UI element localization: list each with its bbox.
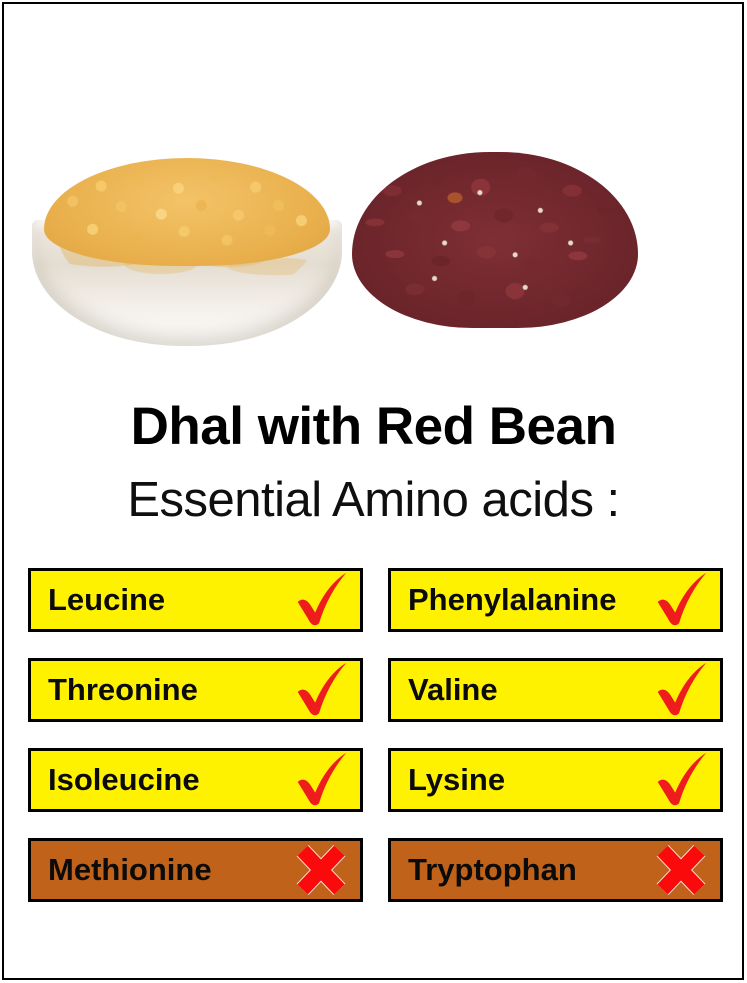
- photo-strip: [0, 140, 747, 350]
- amino-acid-item-valine[interactable]: Valine: [388, 658, 723, 722]
- amino-acid-label: Threonine: [48, 672, 198, 708]
- amino-acid-label: Leucine: [48, 582, 165, 618]
- check-icon: [290, 749, 352, 811]
- amino-acid-item-methionine[interactable]: Methionine: [28, 838, 363, 902]
- amino-acid-label: Tryptophan: [408, 852, 577, 888]
- amino-acid-item-isoleucine[interactable]: Isoleucine: [28, 748, 363, 812]
- amino-acid-label: Phenylalanine: [408, 582, 616, 618]
- amino-acid-item-phenylalanine[interactable]: Phenylalanine: [388, 568, 723, 632]
- amino-acid-label: Valine: [408, 672, 498, 708]
- amino-acid-item-leucine[interactable]: Leucine: [28, 568, 363, 632]
- amino-acid-label: Methionine: [48, 852, 212, 888]
- amino-acid-grid: Leucine Phenylalanine Threonine Vali: [28, 568, 723, 928]
- dhal-bowl-photo: [32, 158, 342, 346]
- amino-acid-label: Lysine: [408, 762, 505, 798]
- check-icon: [650, 659, 712, 721]
- check-icon: [290, 569, 352, 631]
- cross-icon: [290, 839, 352, 901]
- page-subtitle: Essential Amino acids :: [0, 472, 747, 528]
- red-bean-pile: [352, 152, 638, 328]
- red-bean-photo: [352, 152, 638, 344]
- amino-acid-item-tryptophan[interactable]: Tryptophan: [388, 838, 723, 902]
- amino-acid-row: Methionine Tryptophan: [28, 838, 723, 902]
- amino-acid-row: Isoleucine Lysine: [28, 748, 723, 812]
- check-icon: [650, 749, 712, 811]
- check-icon: [290, 659, 352, 721]
- poster-root: Dhal with Red Bean Essential Amino acids…: [0, 0, 747, 983]
- amino-acid-label: Isoleucine: [48, 762, 200, 798]
- amino-acid-row: Threonine Valine: [28, 658, 723, 722]
- dhal-lentils: [44, 158, 330, 266]
- check-icon: [650, 569, 712, 631]
- page-title: Dhal with Red Bean: [0, 396, 747, 457]
- amino-acid-item-threonine[interactable]: Threonine: [28, 658, 363, 722]
- amino-acid-item-lysine[interactable]: Lysine: [388, 748, 723, 812]
- cross-icon: [650, 839, 712, 901]
- amino-acid-row: Leucine Phenylalanine: [28, 568, 723, 632]
